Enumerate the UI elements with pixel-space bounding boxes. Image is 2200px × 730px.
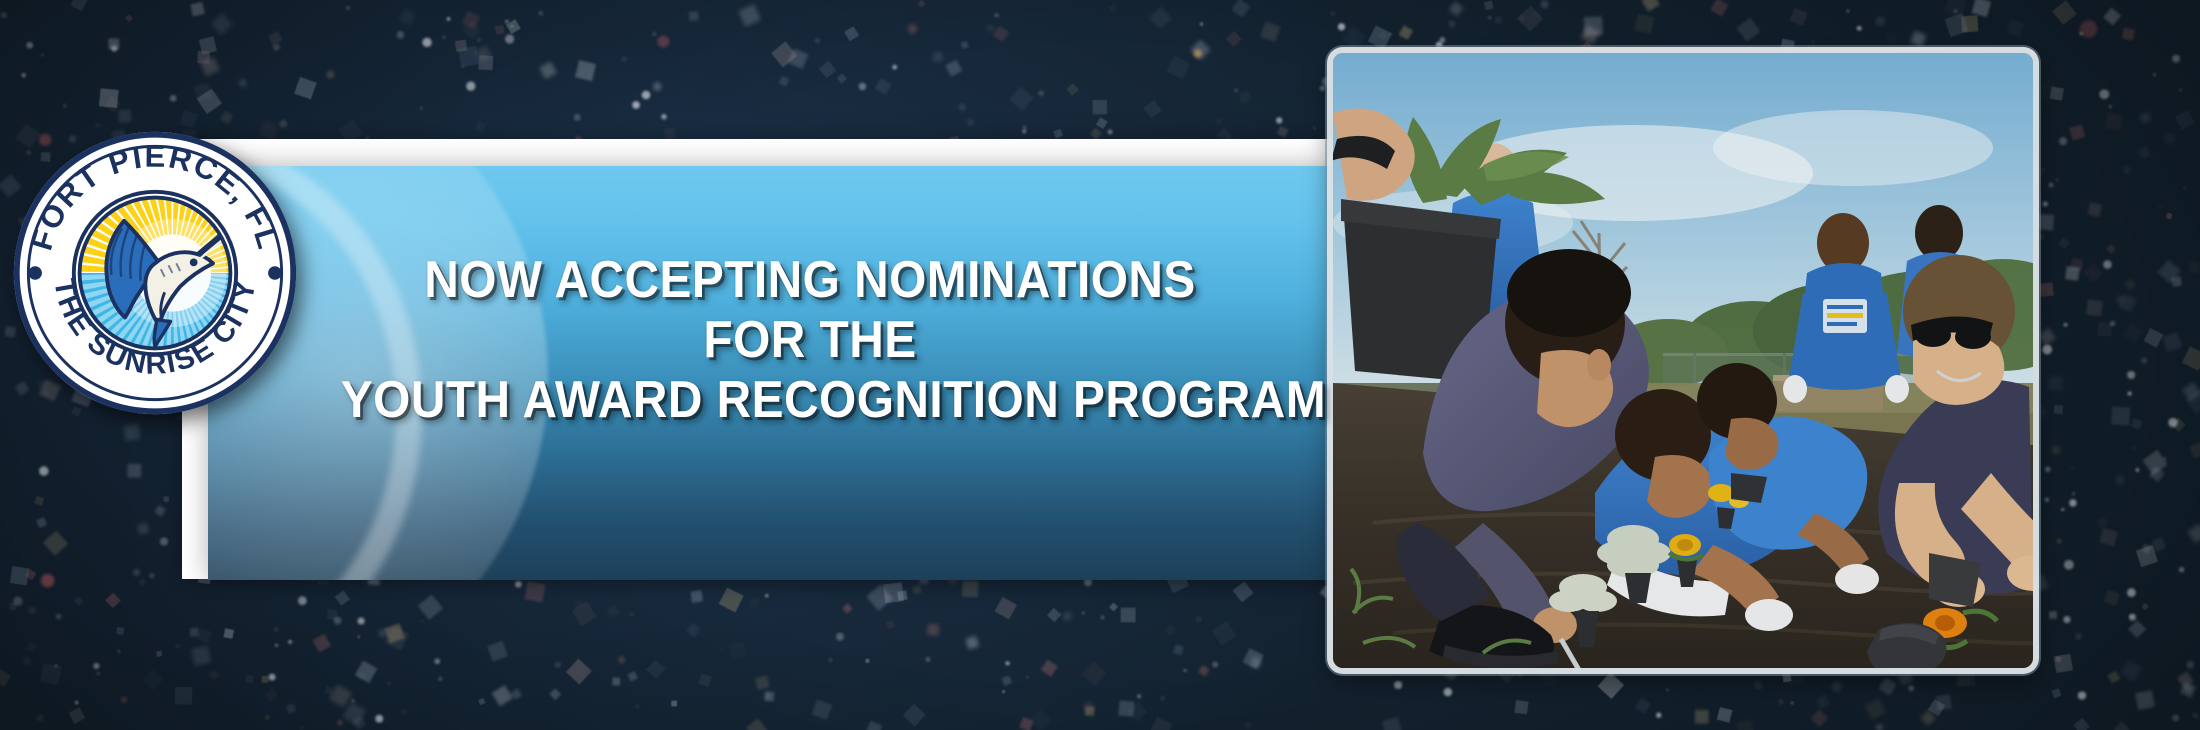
city-seal-logo: FORT PIERCE, FL THE SUNRISE CITY	[10, 128, 300, 418]
banner-blue-panel	[208, 166, 1338, 580]
banner-stage: NOW ACCEPTING NOMINATIONS FOR THE YOUTH …	[0, 0, 2200, 730]
volunteer-photo	[1333, 53, 2033, 668]
